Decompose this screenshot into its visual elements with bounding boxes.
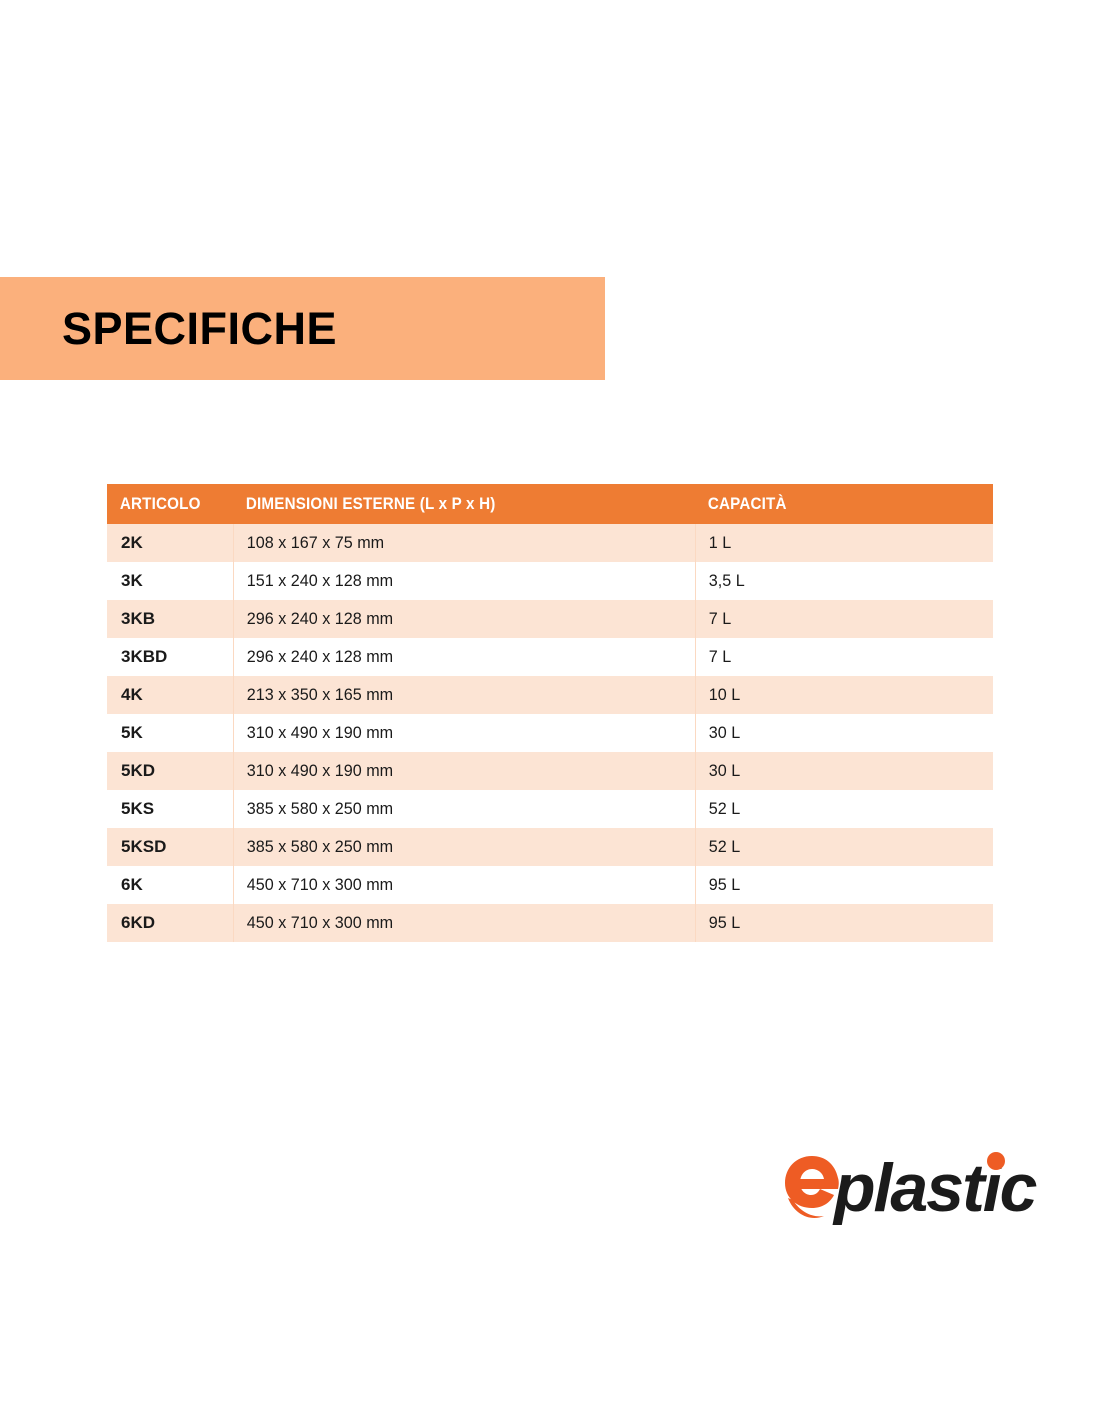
cell-capacita: 52 L: [695, 828, 978, 866]
logo-wordmark: plastic: [834, 1154, 1035, 1222]
cell-dimensioni: 310 x 490 x 190 mm: [233, 752, 672, 790]
cell-articolo: 5KSD: [107, 828, 233, 866]
column-header-dimensioni: DIMENSIONI ESTERNE (L x P x H): [233, 484, 658, 524]
table-row: 6KD 450 x 710 x 300 mm 95 L: [107, 904, 993, 942]
cell-capacita: 30 L: [695, 752, 978, 790]
cell-articolo: 4K: [107, 676, 233, 714]
table-row: 5K 310 x 490 x 190 mm 30 L: [107, 714, 993, 752]
table-row: 5KS 385 x 580 x 250 mm 52 L: [107, 790, 993, 828]
table-row: 5KD 310 x 490 x 190 mm 30 L: [107, 752, 993, 790]
table-row: 4K 213 x 350 x 165 mm 10 L: [107, 676, 993, 714]
specs-table-container: ARTICOLO DIMENSIONI ESTERNE (L x P x H) …: [107, 484, 993, 942]
cell-articolo: 6KD: [107, 904, 233, 942]
specs-table-body: 2K 108 x 167 x 75 mm 1 L 3K 151 x 240 x …: [107, 524, 993, 942]
cell-capacita: 1 L: [695, 524, 978, 562]
table-row: 3KBD 296 x 240 x 128 mm 7 L: [107, 638, 993, 676]
cell-capacita: 10 L: [695, 676, 978, 714]
cell-dimensioni: 385 x 580 x 250 mm: [233, 790, 672, 828]
cell-dimensioni: 296 x 240 x 128 mm: [233, 600, 672, 638]
cell-articolo: 3KB: [107, 600, 233, 638]
table-row: 2K 108 x 167 x 75 mm 1 L: [107, 524, 993, 562]
cell-dimensioni: 296 x 240 x 128 mm: [233, 638, 672, 676]
column-header-articolo: ARTICOLO: [107, 484, 223, 524]
cell-articolo: 5KS: [107, 790, 233, 828]
table-row: 5KSD 385 x 580 x 250 mm 52 L: [107, 828, 993, 866]
cell-articolo: 5K: [107, 714, 233, 752]
cell-dimensioni: 108 x 167 x 75 mm: [233, 524, 672, 562]
eplastic-logo: plastic: [782, 1148, 1042, 1244]
cell-capacita: 30 L: [695, 714, 978, 752]
table-header-row: ARTICOLO DIMENSIONI ESTERNE (L x P x H) …: [107, 484, 993, 524]
column-header-capacita: CAPACITÀ: [695, 484, 969, 524]
table-row: 3K 151 x 240 x 128 mm 3,5 L: [107, 562, 993, 600]
specs-table-header: ARTICOLO DIMENSIONI ESTERNE (L x P x H) …: [107, 484, 993, 524]
cell-dimensioni: 310 x 490 x 190 mm: [233, 714, 672, 752]
cell-articolo: 2K: [107, 524, 233, 562]
cell-dimensioni: 151 x 240 x 128 mm: [233, 562, 672, 600]
specs-table: ARTICOLO DIMENSIONI ESTERNE (L x P x H) …: [107, 484, 993, 942]
table-row: 6K 450 x 710 x 300 mm 95 L: [107, 866, 993, 904]
cell-articolo: 6K: [107, 866, 233, 904]
cell-articolo: 3KBD: [107, 638, 233, 676]
cell-capacita: 3,5 L: [695, 562, 978, 600]
cell-articolo: 3K: [107, 562, 233, 600]
table-row: 3KB 296 x 240 x 128 mm 7 L: [107, 600, 993, 638]
cell-capacita: 52 L: [695, 790, 978, 828]
cell-capacita: 95 L: [695, 904, 978, 942]
cell-dimensioni: 385 x 580 x 250 mm: [233, 828, 672, 866]
cell-dimensioni: 450 x 710 x 300 mm: [233, 904, 672, 942]
cell-capacita: 7 L: [695, 600, 978, 638]
cell-capacita: 7 L: [695, 638, 978, 676]
specifiche-banner: SPECIFICHE: [0, 277, 605, 380]
cell-capacita: 95 L: [695, 866, 978, 904]
eplastic-e-icon: [782, 1148, 842, 1234]
logo-i-dot-icon: [987, 1152, 1005, 1170]
page-title: SPECIFICHE: [62, 306, 337, 351]
cell-dimensioni: 450 x 710 x 300 mm: [233, 866, 672, 904]
cell-articolo: 5KD: [107, 752, 233, 790]
cell-dimensioni: 213 x 350 x 165 mm: [233, 676, 672, 714]
